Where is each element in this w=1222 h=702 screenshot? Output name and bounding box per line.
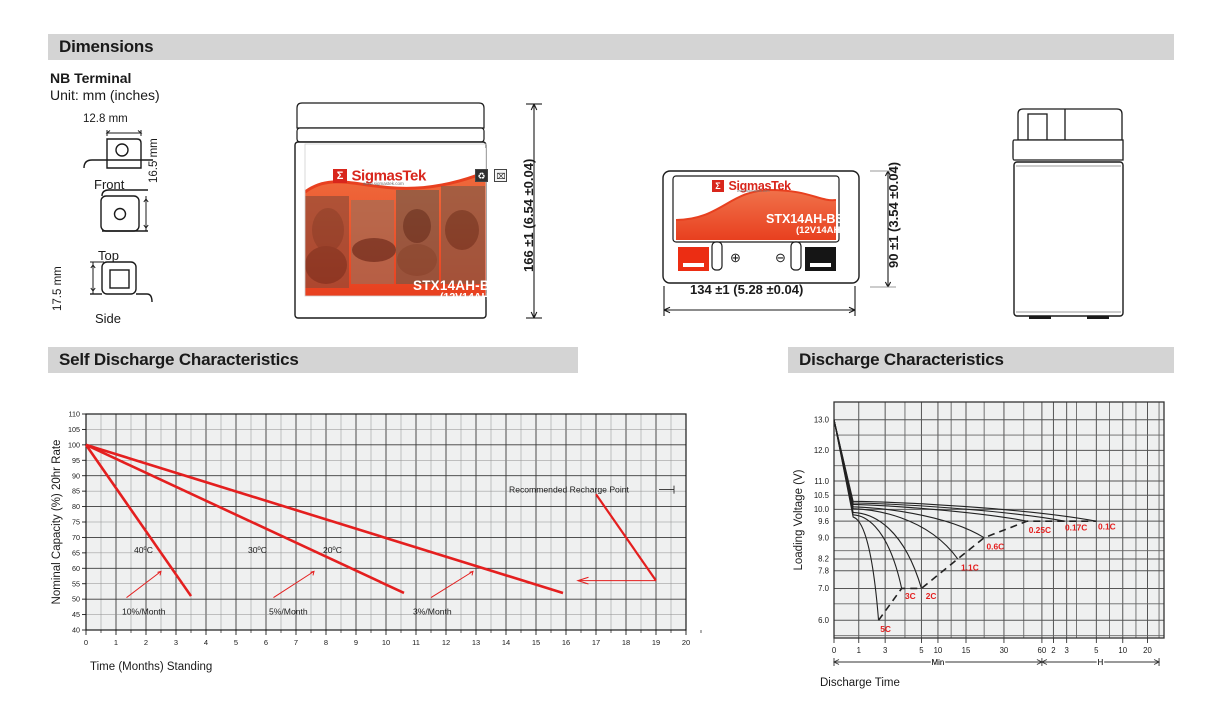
svg-text:10.0: 10.0 <box>814 505 830 514</box>
chart-self-discharge: 4045505560657075808590951001051100123456… <box>48 400 728 690</box>
svg-text:55: 55 <box>72 579 80 588</box>
svg-text:60: 60 <box>1038 646 1047 655</box>
svg-text:9: 9 <box>354 638 358 647</box>
svg-text:11.0: 11.0 <box>814 477 829 486</box>
svg-text:20: 20 <box>682 638 690 647</box>
section-header-dimensions: Dimensions <box>48 34 1174 60</box>
svg-text:110: 110 <box>69 410 80 419</box>
svg-text:1.1C: 1.1C <box>961 563 979 573</box>
svg-text:1: 1 <box>857 646 861 655</box>
svg-text:3: 3 <box>1064 646 1068 655</box>
svg-text:Nominal Capacity (%) 20hr Rate: Nominal Capacity (%) 20hr Rate <box>51 440 63 605</box>
svg-text:16: 16 <box>562 638 570 647</box>
svg-text:15: 15 <box>532 638 540 647</box>
section-title-discharge: Discharge Characteristics <box>799 350 1004 370</box>
svg-text:9.0: 9.0 <box>818 534 830 543</box>
svg-text:45: 45 <box>72 610 80 619</box>
svg-text:3: 3 <box>174 638 178 647</box>
svg-text:18: 18 <box>622 638 630 647</box>
svg-text:30: 30 <box>1000 646 1009 655</box>
svg-text:14: 14 <box>502 638 510 647</box>
svg-text:100: 100 <box>68 440 80 449</box>
svg-text:65: 65 <box>72 548 80 557</box>
svg-text:10%/Month: 10%/Month <box>122 606 166 616</box>
terminal-front-label: Front <box>94 177 124 192</box>
svg-text:3: 3 <box>883 646 887 655</box>
svg-text:75: 75 <box>72 518 80 527</box>
svg-text:2C: 2C <box>926 591 937 601</box>
svg-text:8: 8 <box>324 638 328 647</box>
brand-url-side: www.sigmastek.com <box>737 189 770 193</box>
svg-text:5: 5 <box>1094 646 1099 655</box>
svg-text:Discharge Time: Discharge Time <box>820 677 900 689</box>
section-header-discharge: Discharge Characteristics <box>788 347 1174 373</box>
battery-front-features: • Power Sports AGM Battery • Superior Pe… <box>303 305 475 309</box>
svg-text:5C: 5C <box>880 624 891 634</box>
battery-profile-view <box>975 100 1135 328</box>
svg-text:0.17C: 0.17C <box>1065 523 1087 533</box>
svg-text:0.1C: 0.1C <box>1098 521 1116 531</box>
svg-text:0: 0 <box>832 646 837 655</box>
svg-text:H: H <box>1098 658 1104 667</box>
svg-text:4: 4 <box>204 638 208 647</box>
svg-text:17: 17 <box>592 638 600 647</box>
svg-text:5%/Month: 5%/Month <box>269 606 308 616</box>
terminal-top-view <box>101 190 148 231</box>
svg-text:40: 40 <box>72 626 80 635</box>
terminal-front-view <box>84 130 153 168</box>
svg-text:6.0: 6.0 <box>818 616 830 625</box>
svg-text:5: 5 <box>919 646 924 655</box>
terminal-width-label: 12.8 mm <box>83 113 128 125</box>
svg-text:70: 70 <box>72 533 80 542</box>
svg-text:80: 80 <box>72 502 80 511</box>
svg-text:90: 90 <box>72 471 80 480</box>
svg-text:0.25C: 0.25C <box>1029 525 1051 535</box>
svg-text:Time (Months) Standing: Time (Months) Standing <box>90 661 212 673</box>
svg-text:12.0: 12.0 <box>814 446 830 455</box>
terminal-side-view <box>90 262 152 302</box>
section-title-self-discharge: Self Discharge Characteristics <box>59 350 299 370</box>
svg-text:30ºC: 30ºC <box>248 545 267 555</box>
svg-text:10.5: 10.5 <box>814 491 830 500</box>
terminal-height-label: 16.5 mm <box>148 138 160 183</box>
svg-text:1: 1 <box>114 638 118 647</box>
svg-text:85: 85 <box>72 487 80 496</box>
terminal-heading-text: NB Terminal <box>50 70 160 86</box>
terminal-depth-label: 17.5 mm <box>52 266 64 311</box>
svg-text:⊕: ⊕ <box>730 250 741 265</box>
battery-width-dimension-label: 134 ±1 (5.28 ±0.04) <box>690 282 803 297</box>
svg-text:8.2: 8.2 <box>818 555 829 564</box>
svg-text:11: 11 <box>412 638 420 647</box>
svg-text:2: 2 <box>1051 646 1055 655</box>
svg-text:13.0: 13.0 <box>814 416 830 425</box>
svg-text:10: 10 <box>1118 646 1127 655</box>
svg-text:3%/Month: 3%/Month <box>413 606 452 616</box>
svg-text:Recommended Recharge Point: Recommended Recharge Point <box>509 485 630 495</box>
svg-text:6: 6 <box>264 638 268 647</box>
svg-text:7: 7 <box>294 638 298 647</box>
sigma-logo-icon-side: Σ <box>712 180 724 192</box>
battery-height-dimension-label: 166 ±1 (6.54 ±0.04) <box>521 159 536 272</box>
svg-text:7.0: 7.0 <box>818 584 830 593</box>
battery-side-model: STX14AH-BS <box>766 212 844 226</box>
svg-text:12: 12 <box>442 638 450 647</box>
terminal-unit-text: Unit: mm (inches) <box>50 87 160 103</box>
svg-text:⊖: ⊖ <box>775 250 786 265</box>
section-header-self-discharge: Self Discharge Characteristics <box>48 347 578 373</box>
svg-text:5: 5 <box>234 638 238 647</box>
battery-front-capacity: (12V14AH) <box>440 291 493 303</box>
svg-text:3C: 3C <box>905 591 916 601</box>
chart-discharge: 13.012.011.010.510.09.69.08.27.87.06.001… <box>788 392 1208 692</box>
svg-text:13: 13 <box>472 638 480 647</box>
battery-side-capacity: (12V14AH) <box>796 225 844 236</box>
svg-text:105: 105 <box>68 425 80 434</box>
svg-text:0.6C: 0.6C <box>986 542 1004 552</box>
svg-text:15: 15 <box>962 646 971 655</box>
svg-text:60: 60 <box>72 564 80 573</box>
svg-text:10: 10 <box>382 638 390 647</box>
svg-text:2: 2 <box>144 638 148 647</box>
svg-text:Loading Voltage (V): Loading Voltage (V) <box>793 469 805 570</box>
brand-url: www.sigmastek.com <box>363 181 404 186</box>
svg-text:20ºC: 20ºC <box>323 545 342 555</box>
terminal-top-label: Top <box>98 248 119 263</box>
svg-text:50: 50 <box>72 595 80 604</box>
svg-text:Min: Min <box>932 658 945 667</box>
svg-text:7.8: 7.8 <box>818 567 829 576</box>
svg-text:10: 10 <box>934 646 943 655</box>
svg-text:0: 0 <box>84 638 88 647</box>
svg-text:9.6: 9.6 <box>818 517 829 526</box>
section-title-dimensions: Dimensions <box>59 37 153 57</box>
no-dispose-icon: ⌧ <box>494 169 507 182</box>
terminal-side-label: Side <box>95 311 121 326</box>
svg-text:19: 19 <box>652 638 660 647</box>
sigma-logo-icon: Σ <box>333 169 347 183</box>
svg-text:40ºC: 40ºC <box>134 545 153 555</box>
recycle-icon: ♻ <box>475 169 488 182</box>
battery-front-icons: ♻ ⌧ <box>475 166 507 184</box>
svg-text:95: 95 <box>72 456 80 465</box>
battery-depth-dimension-label: 90 ±1 (3.54 ±0.04) <box>886 162 901 268</box>
terminal-heading: NB Terminal Unit: mm (inches) <box>50 70 160 103</box>
svg-text:20: 20 <box>1143 646 1152 655</box>
